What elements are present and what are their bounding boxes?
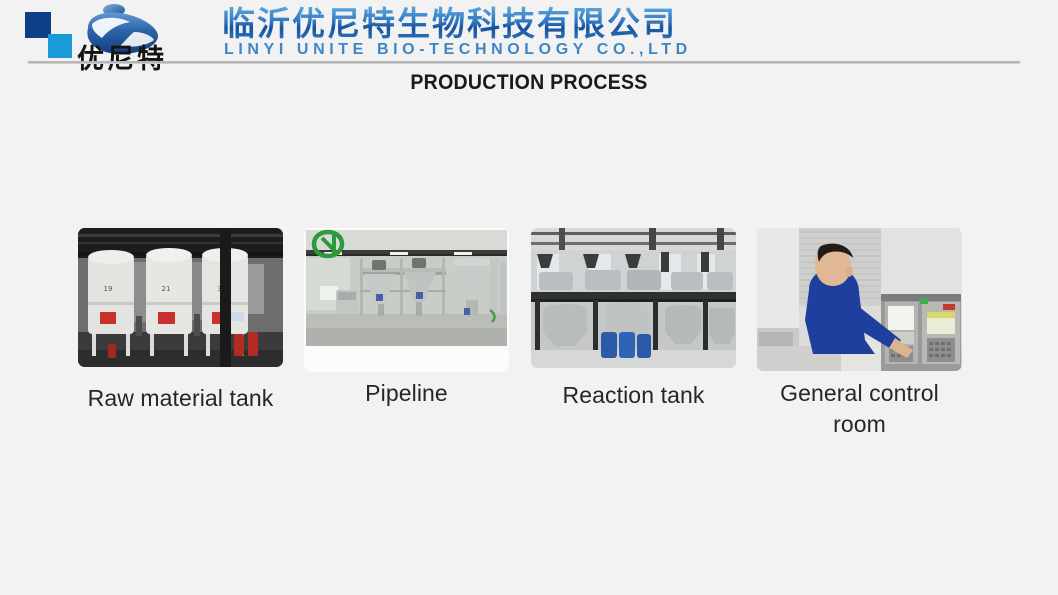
svg-text:19: 19 [104,285,113,293]
process-step-reaction-tank[interactable]: Reaction tank [531,228,736,368]
header-divider [28,61,1020,64]
process-step-list: 19 21 30 [0,228,1058,458]
pipeline-photo [304,228,509,372]
logo-brand-cn: 优尼特 [77,46,167,73]
slide-header: 优尼特 临沂优尼特生物科技有限公司 LINYI UNITE BIO-TECHNO… [0,0,1058,68]
company-name-en: LINYI UNITE BIO-TECHNOLOGY CO.,LTD [224,42,692,58]
process-step-general-control-room[interactable]: General control room [757,228,962,371]
general-control-room-photo [757,228,962,371]
page-title: PRODUCTION PROCESS [37,71,1021,95]
slide-production-process: 优尼特 临沂优尼特生物科技有限公司 LINYI UNITE BIO-TECHNO… [0,0,1058,595]
process-step-caption: Raw material tank [78,383,283,414]
process-step-caption: Pipeline [304,378,509,409]
process-step-raw-material-tank[interactable]: 19 21 30 [78,228,283,367]
process-step-caption: General control room [757,378,962,440]
reaction-tank-photo [531,228,736,368]
process-step-pipeline[interactable]: Pipeline [304,228,509,372]
logo-square-light-icon [48,34,72,58]
raw-material-tank-photo: 19 21 30 [78,228,283,367]
process-step-caption: Reaction tank [531,380,736,411]
svg-text:21: 21 [162,285,171,293]
company-logo: 优尼特 [22,4,212,68]
company-name-cn: 临沂优尼特生物科技有限公司 [222,6,677,43]
